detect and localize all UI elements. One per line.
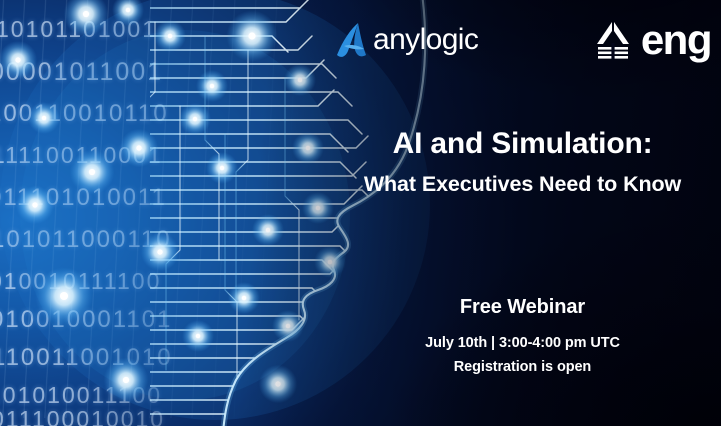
anylogic-wordmark: anylogic <box>373 25 478 55</box>
webinar-registration-status: Registration is open <box>330 359 715 376</box>
eng-triangle-mark-icon <box>593 19 633 61</box>
headline-block: AI and Simulation: What Executives Need … <box>330 126 715 198</box>
webinar-info-block: Free Webinar July 10th | 3:00-4:00 pm UT… <box>330 296 715 377</box>
headline-primary: AI and Simulation: <box>330 126 715 161</box>
logo-bar: anylogic eng <box>330 14 715 70</box>
webinar-title: Free Webinar <box>330 296 715 318</box>
anylogic-logo[interactable]: anylogic <box>335 18 478 62</box>
anylogic-a-mark-icon <box>335 22 369 58</box>
eng-logo[interactable]: eng <box>593 16 711 64</box>
webinar-datetime: July 10th | 3:00-4:00 pm UTC <box>330 335 715 352</box>
headline-secondary: What Executives Need to Know <box>330 172 715 198</box>
eng-wordmark: eng <box>641 21 711 59</box>
webinar-banner: 1010110100100001011001100110010110111100… <box>0 0 721 426</box>
